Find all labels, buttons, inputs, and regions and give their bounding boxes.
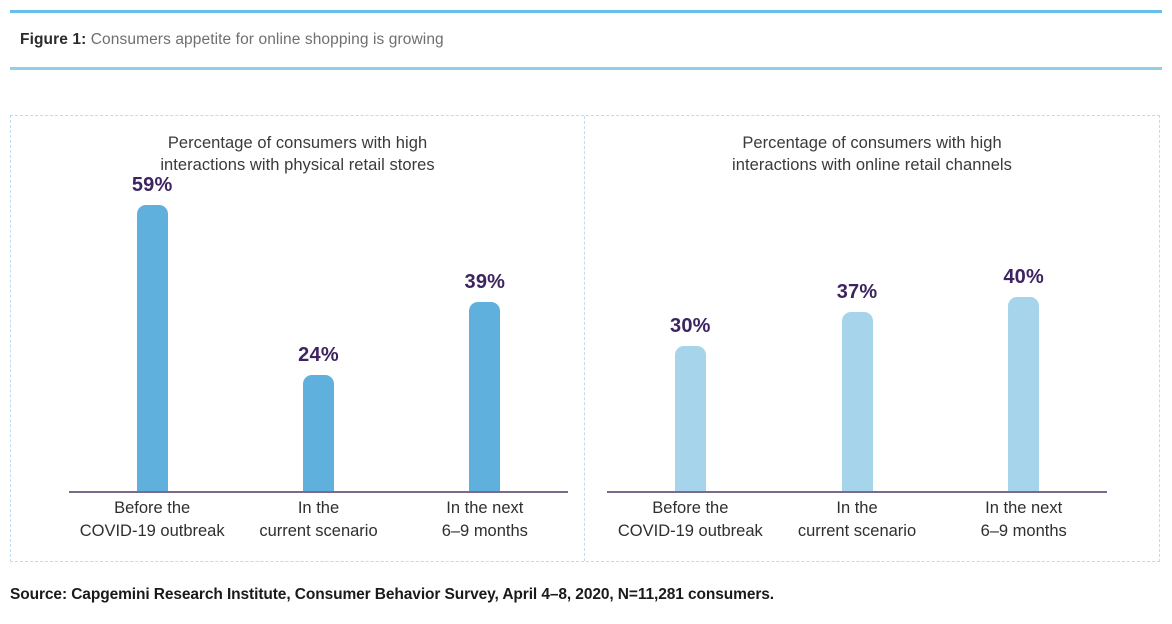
- bar-value-label: 37%: [774, 281, 941, 304]
- x-axis-label: In the next 6–9 months: [402, 497, 568, 553]
- source-note: Source: Capgemini Research Institute, Co…: [10, 586, 774, 604]
- x-axis-line: [69, 491, 568, 493]
- plot-area-online-retail: 30% 37% 40%: [607, 176, 1107, 493]
- x-axis-label-line: In the: [774, 497, 941, 520]
- x-axis-label-line: COVID-19 outbreak: [69, 520, 235, 543]
- x-axis-label: Before the COVID-19 outbreak: [69, 497, 235, 553]
- x-axis-label: In the current scenario: [774, 497, 941, 553]
- x-axis-labels-physical-retail: Before the COVID-19 outbreak In the curr…: [69, 497, 568, 553]
- bar: [303, 375, 334, 491]
- plot-area-physical-retail: 59% 24% 39%: [69, 176, 568, 493]
- figure-caption-text: Consumers appetite for online shopping i…: [86, 31, 443, 48]
- x-axis-label: In the current scenario: [235, 497, 401, 553]
- x-axis-label-line: Before the: [607, 497, 774, 520]
- bar-slot: 37%: [774, 176, 941, 491]
- chart-panel-online-retail: Percentage of consumers with high intera…: [585, 116, 1159, 561]
- panel-title-line-2: interactions with online retail channels: [585, 154, 1159, 176]
- bar-slot: 40%: [940, 176, 1107, 491]
- x-axis-line: [607, 491, 1107, 493]
- bar-group-physical-retail: 59% 24% 39%: [69, 176, 568, 491]
- bar: [137, 205, 168, 491]
- x-axis-label: Before the COVID-19 outbreak: [607, 497, 774, 553]
- bar-slot: 39%: [402, 176, 568, 491]
- x-axis-label-line: current scenario: [235, 520, 401, 543]
- bar: [1008, 297, 1039, 491]
- chart-frame: Percentage of consumers with high intera…: [10, 115, 1160, 562]
- x-axis-label-line: In the: [235, 497, 401, 520]
- bar: [842, 312, 873, 491]
- bar-value-label: 59%: [69, 174, 235, 197]
- panel-title-online-retail: Percentage of consumers with high intera…: [585, 132, 1159, 177]
- bar-slot: 24%: [235, 176, 401, 491]
- x-axis-labels-online-retail: Before the COVID-19 outbreak In the curr…: [607, 497, 1107, 553]
- bar-value-label: 40%: [940, 266, 1107, 289]
- bar-value-label: 30%: [607, 315, 774, 338]
- bar: [469, 302, 500, 491]
- x-axis-label-line: In the next: [402, 497, 568, 520]
- x-axis-label-line: current scenario: [774, 520, 941, 543]
- panel-title-line-1: Percentage of consumers with high: [585, 132, 1159, 154]
- bar-value-label: 24%: [235, 344, 401, 367]
- bar-value-label: 39%: [402, 271, 568, 294]
- x-axis-label-line: Before the: [69, 497, 235, 520]
- bar-group-online-retail: 30% 37% 40%: [607, 176, 1107, 491]
- bar-slot: 30%: [607, 176, 774, 491]
- bar-slot: 59%: [69, 176, 235, 491]
- x-axis-label-line: In the next: [940, 497, 1107, 520]
- panel-title-physical-retail: Percentage of consumers with high intera…: [11, 132, 584, 177]
- figure-header: Figure 1: Consumers appetite for online …: [10, 10, 1162, 70]
- x-axis-label-line: 6–9 months: [940, 520, 1107, 543]
- chart-panel-physical-retail: Percentage of consumers with high intera…: [11, 116, 585, 561]
- page-title: Figure 1: Consumers appetite for online …: [10, 31, 444, 49]
- x-axis-label-line: 6–9 months: [402, 520, 568, 543]
- panel-title-line-1: Percentage of consumers with high: [11, 132, 584, 154]
- x-axis-label-line: COVID-19 outbreak: [607, 520, 774, 543]
- x-axis-label: In the next 6–9 months: [940, 497, 1107, 553]
- figure-label: Figure 1:: [20, 31, 86, 48]
- bar: [675, 346, 706, 491]
